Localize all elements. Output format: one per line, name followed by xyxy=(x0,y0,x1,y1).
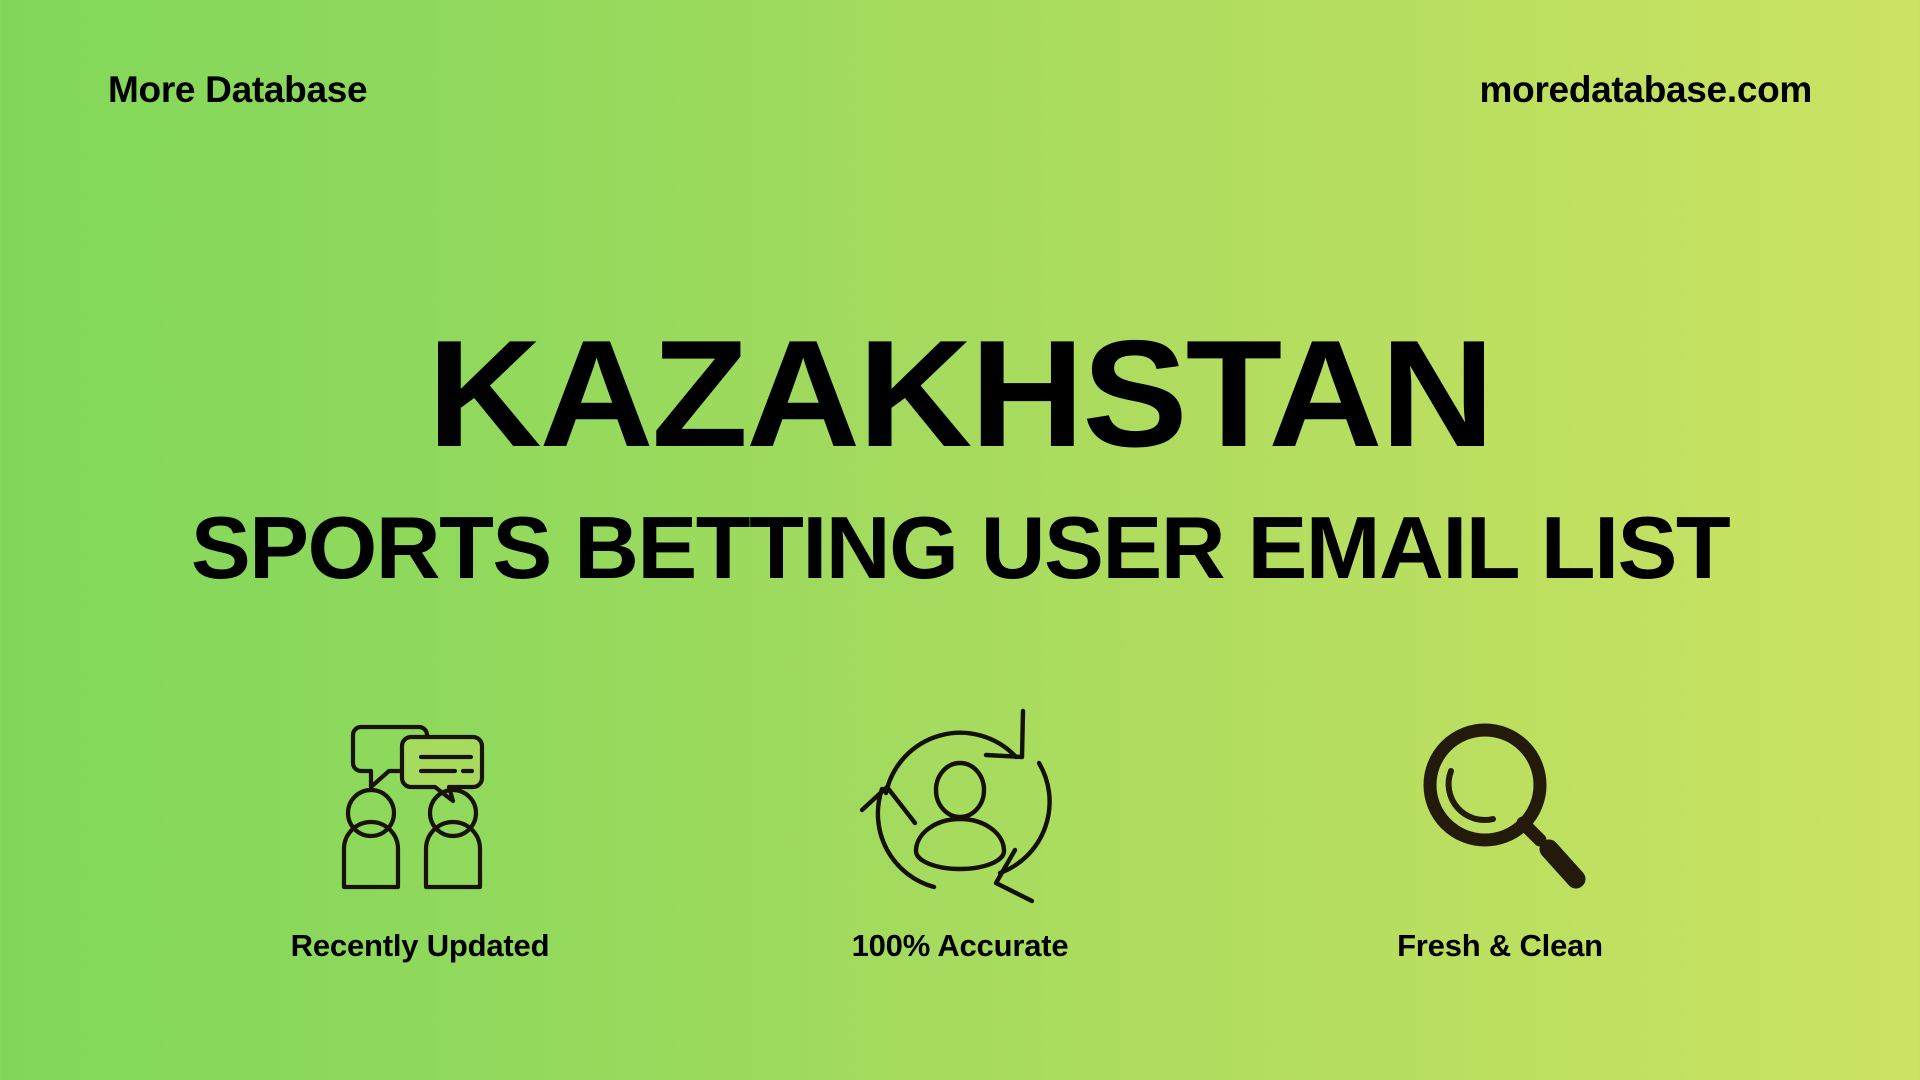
hero-titles: KAZAKHSTAN SPORTS BETTING USER EMAIL LIS… xyxy=(0,318,1920,592)
feature-icon-wrap xyxy=(1413,700,1588,910)
hero-subtitle: SPORTS BETTING USER EMAIL LIST xyxy=(0,504,1920,592)
feature-recently-updated: Recently Updated xyxy=(240,700,600,964)
banner-header: More Database moredatabase.com xyxy=(0,0,1920,180)
people-chat-icon xyxy=(335,715,505,895)
website-url: moredatabase.com xyxy=(1480,69,1812,111)
feature-fresh-clean: Fresh & Clean xyxy=(1320,700,1680,964)
feature-icon-wrap xyxy=(335,700,505,910)
feature-label: Recently Updated xyxy=(291,928,550,964)
feature-icon-wrap xyxy=(860,700,1060,910)
feature-accurate: 100% Accurate xyxy=(780,700,1140,964)
feature-row: Recently Updated xyxy=(0,700,1920,964)
brand-name: More Database xyxy=(108,69,367,111)
feature-label: 100% Accurate xyxy=(852,928,1069,964)
user-refresh-cycle-icon xyxy=(860,705,1060,905)
hero-country-title: KAZAKHSTAN xyxy=(0,318,1920,470)
magnifying-glass-icon xyxy=(1413,715,1588,895)
feature-label: Fresh & Clean xyxy=(1397,928,1603,964)
promo-banner: { "header": { "brand_name": "More Databa… xyxy=(0,0,1920,1080)
